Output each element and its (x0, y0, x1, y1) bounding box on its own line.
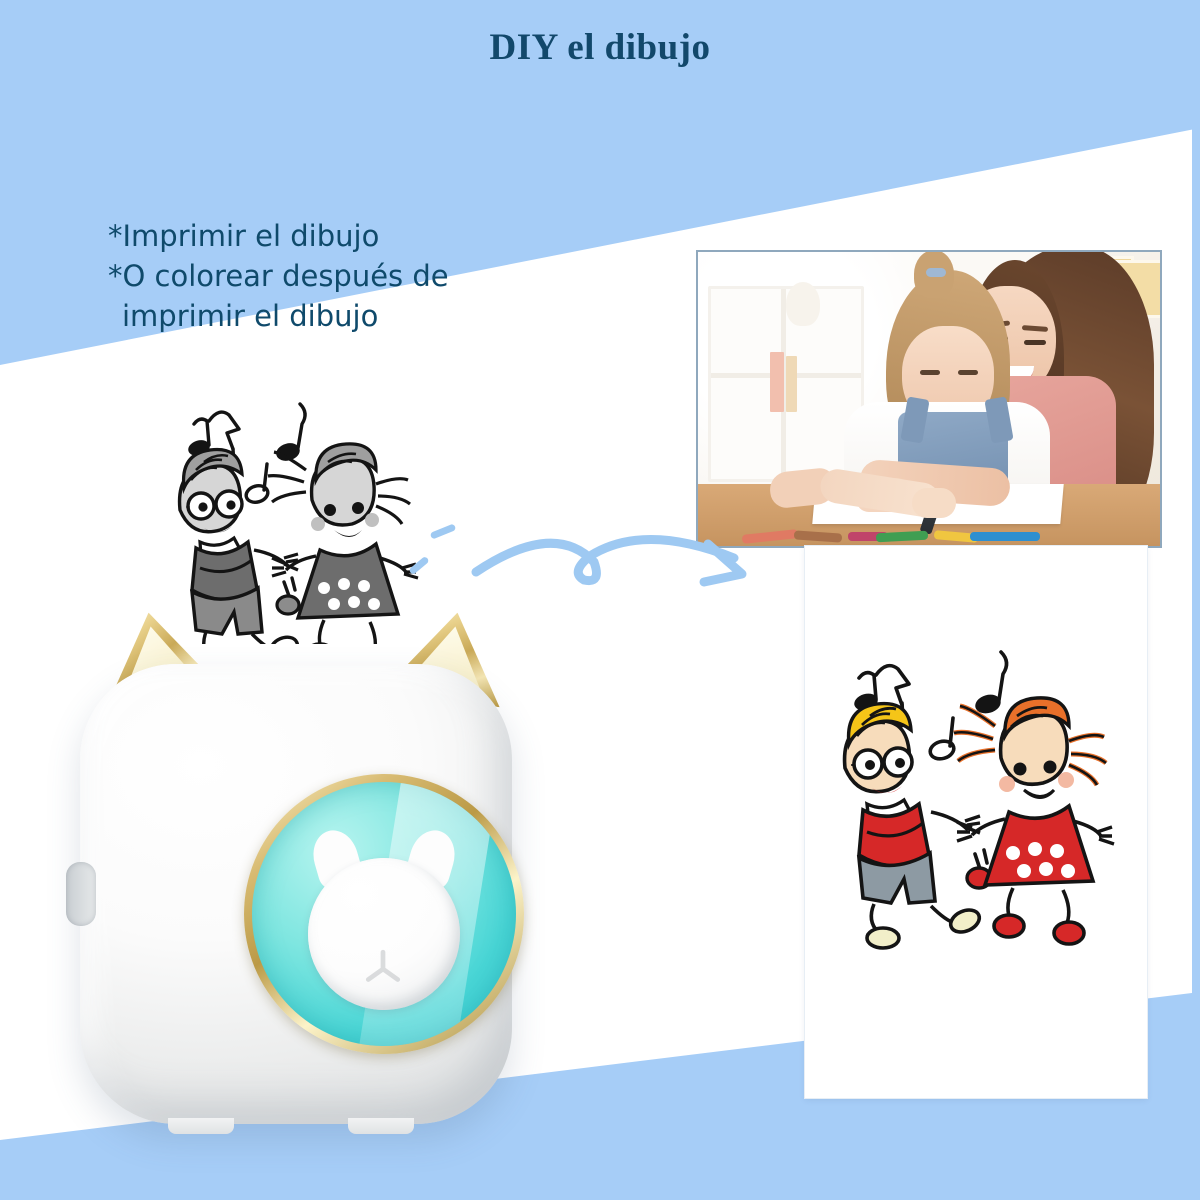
photo-girl-hair-tie (926, 268, 946, 277)
photo-girl-hand (912, 488, 956, 518)
photo-girl-eye-left (920, 370, 940, 375)
three-prong-propeller-icon (362, 948, 404, 990)
drawing-color (805, 642, 1147, 982)
printed-sheet-grayscale (140, 398, 412, 634)
printer-side-button[interactable] (66, 862, 96, 926)
photo-mother-eye-right (1024, 340, 1046, 345)
photo-girl-eye-right (958, 370, 978, 375)
printed-card-color (805, 546, 1147, 1098)
photo-crayon-blue (970, 532, 1040, 541)
drawing-grayscale (134, 392, 422, 644)
bullet-item-3: imprimir el dibujo (108, 296, 538, 336)
photo-book-1 (770, 352, 784, 412)
mini-printer-device[interactable] (62, 612, 542, 1152)
feature-bullet-list: *Imprimir el dibujo *O colorear después … (108, 216, 538, 336)
bullet-item-1: *Imprimir el dibujo (108, 216, 538, 256)
photo-book-2 (786, 356, 797, 412)
bullet-item-2: *O colorear después de (108, 256, 538, 296)
printer-foot-left (168, 1118, 234, 1134)
page-title: DIY el dibujo (0, 26, 1200, 69)
photo-vase (786, 282, 820, 326)
product-promo-image: DIY el dibujo *Imprimir el dibujo *O col… (0, 0, 1200, 1200)
printer-foot-right (348, 1118, 414, 1134)
